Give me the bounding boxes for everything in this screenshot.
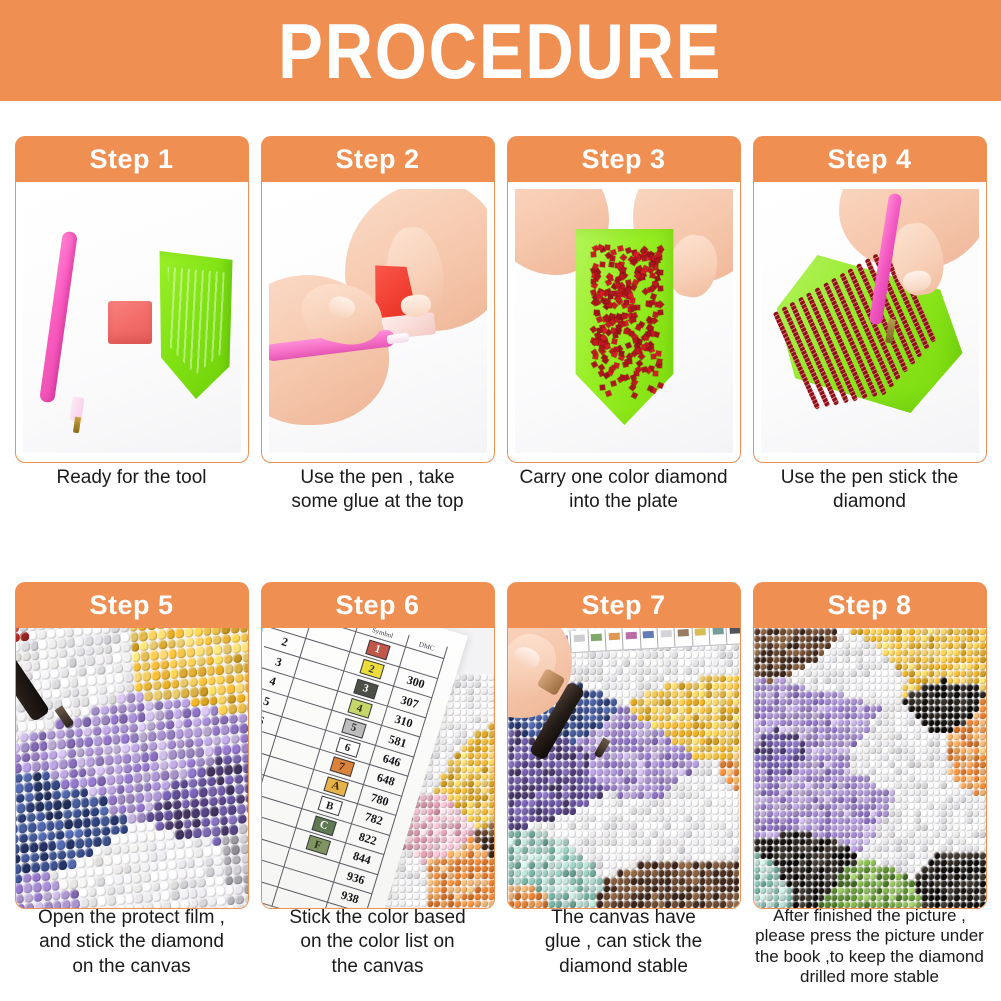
step-header-5: Step 5 (15, 582, 249, 628)
step-caption-5: Open the protect film ,and stick the dia… (15, 906, 249, 988)
step-card-3: Step 3 (507, 136, 741, 463)
step-caption-1: Ready for the tool (15, 466, 249, 515)
procedure-infographic: PROCEDURE Step 1 Step 2 (0, 0, 1001, 1001)
step-card-2: Step 2 (261, 136, 495, 463)
tools-pen-glue-tray-photo (23, 189, 241, 453)
steps-row-bottom: Step 5 Step 6 SymbolSymbolDMC11223003330… (0, 582, 1001, 909)
page-banner: PROCEDURE (0, 0, 1001, 101)
legend-swatch (588, 629, 606, 651)
glue-square-icon (108, 301, 152, 344)
step-photo-frame-1 (15, 182, 249, 463)
captions-row-top: Ready for the tool Use the pen , takesom… (0, 466, 1001, 515)
diamond-mosaic-canvas (16, 628, 248, 908)
red-diamond-beads-icon (585, 239, 667, 403)
color-code-chart-sheet-photo: SymbolSymbolDMC1122300333074431055581666… (262, 628, 494, 908)
step-card-6: Step 6 SymbolSymbolDMC112230033307443105… (261, 582, 495, 909)
finished-diamond-painting-photo (754, 628, 986, 908)
step-photo-frame-7 (507, 628, 741, 909)
legend-swatch (605, 628, 623, 650)
legend-swatch (622, 628, 640, 649)
legend-swatch (709, 628, 727, 645)
step-header-4: Step 4 (753, 136, 987, 182)
step-caption-7: The canvas haveglue , can stick thediamo… (507, 906, 741, 988)
hand-pen-over-glued-canvas-photo (508, 628, 740, 908)
pen-tip-icon (386, 333, 409, 345)
step-header-1: Step 1 (15, 136, 249, 182)
step-card-7: Step 7 (507, 582, 741, 909)
step-caption-4: Use the pen stick thediamond (753, 466, 987, 515)
step-card-4: Step 4 (753, 136, 987, 463)
step-caption-6: Stick the color basedon the color list o… (261, 906, 495, 988)
step-photo-frame-5 (15, 628, 249, 909)
step-caption-3: Carry one color diamondinto the plate (507, 466, 741, 515)
step-header-7: Step 7 (507, 582, 741, 628)
pen-picking-aligned-diamonds-photo (761, 189, 979, 453)
pink-pen-icon (39, 231, 78, 403)
diamond-mosaic-canvas (754, 628, 986, 908)
legend-swatch (674, 628, 692, 647)
legend-swatch (726, 628, 739, 644)
step-caption-2: Use the pen , takesome glue at the top (261, 466, 495, 515)
step-photo-frame-8 (753, 628, 987, 909)
step-header-2: Step 2 (261, 136, 495, 182)
step-photo-frame-2 (261, 182, 495, 463)
step-header-6: Step 6 (261, 582, 495, 628)
page-title: PROCEDURE (278, 12, 722, 90)
legend-swatch (691, 628, 709, 646)
hand-holding-tray-red-diamonds-photo (515, 189, 733, 453)
step-photo-frame-3 (507, 182, 741, 463)
steps-row-top: Step 1 Step 2 (0, 136, 1001, 463)
step-photo-frame-6: SymbolSymbolDMC1122300333074431055581666… (261, 628, 495, 909)
legend-swatch (570, 630, 588, 652)
step-card-1: Step 1 (15, 136, 249, 463)
captions-row-bottom: Open the protect film ,and stick the dia… (0, 906, 1001, 988)
step-card-8: Step 8 (753, 582, 987, 909)
hands-pen-dipping-glue-photo (269, 189, 487, 453)
step-card-5: Step 5 (15, 582, 249, 909)
step-caption-8: After finished the picture ,please press… (753, 906, 987, 988)
pen-placing-diamond-on-canvas-photo (16, 628, 248, 908)
step-header-3: Step 3 (507, 136, 741, 182)
step-photo-frame-4 (753, 182, 987, 463)
legend-swatch (640, 628, 658, 649)
legend-swatch (657, 628, 675, 648)
step-header-8: Step 8 (753, 582, 987, 628)
